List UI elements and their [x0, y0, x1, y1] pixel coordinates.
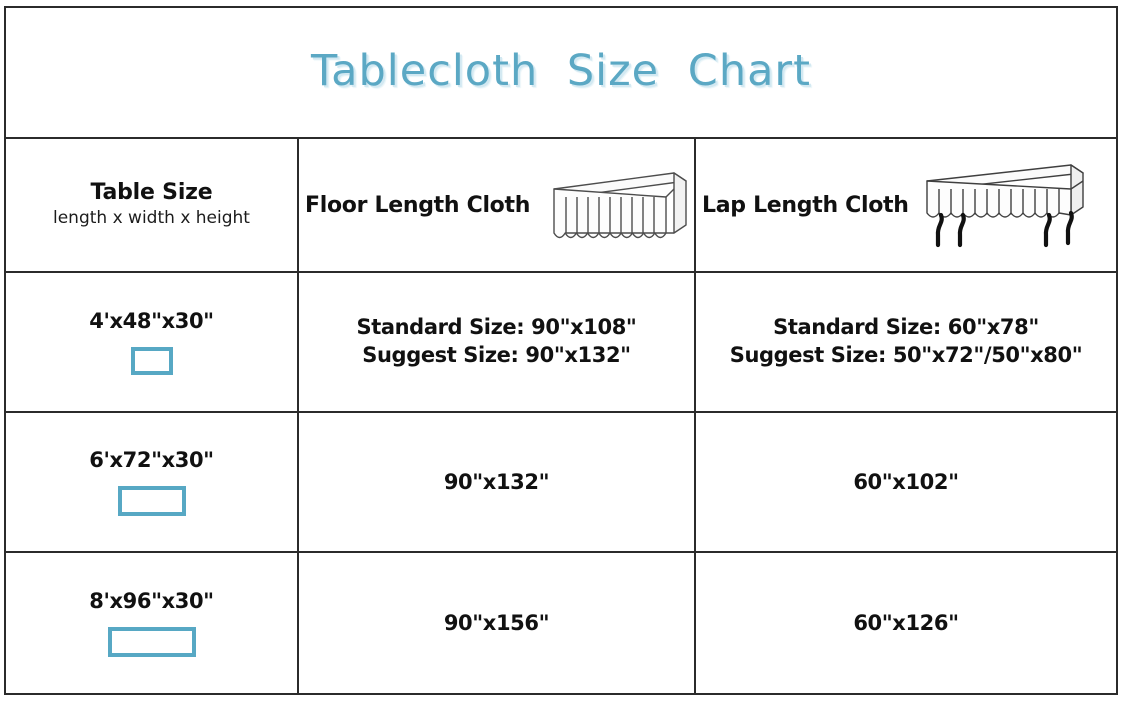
table-row: 6'x72"x30" 90"x132" 60"x102": [6, 413, 1116, 553]
lap-standard-size: Standard Size: 60"x78": [730, 314, 1083, 342]
page-title: Tablecloth Size Chart: [311, 50, 811, 95]
cell-table-size: 8'x96"x30": [6, 553, 299, 693]
floor-length-heading: Floor Length Cloth: [305, 193, 530, 218]
cell-floor-length: 90"x156": [299, 553, 696, 693]
floor-standard-size: Standard Size: 90"x108": [357, 314, 637, 342]
header-cell-table-size: Table Size length x width x height: [6, 139, 299, 271]
table-size-subheading: length x width x height: [53, 207, 250, 229]
floor-size: 90"x156": [444, 611, 549, 635]
table-size-heading: Table Size: [91, 180, 213, 206]
tablecloth-size-chart-page: Tablecloth Size Chart Table Size length …: [0, 0, 1125, 701]
cell-table-size: 4'x48"x30": [6, 273, 299, 411]
table-row: 4'x48"x30" Standard Size: 90"x108" Sugge…: [6, 273, 1116, 413]
table-row: 8'x96"x30" 90"x156" 60"x126": [6, 553, 1116, 693]
cell-lap-length: 60"x126": [696, 553, 1116, 693]
floor-size: 90"x132": [444, 470, 549, 494]
floor-length-tablecloth-icon: [534, 163, 690, 247]
cell-table-size: 6'x72"x30": [6, 413, 299, 551]
lap-suggest-size: Suggest Size: 50"x72"/50"x80": [730, 342, 1083, 370]
floor-suggest-size: Suggest Size: 90"x132": [357, 342, 637, 370]
table-shape-swatch: [108, 627, 196, 657]
table-header-row: Table Size length x width x height Floor…: [6, 139, 1116, 273]
lap-size: 60"x102": [853, 470, 958, 494]
header-cell-floor-length: Floor Length Cloth: [299, 139, 696, 271]
table-shape-swatch: [118, 486, 186, 516]
title-row: Tablecloth Size Chart: [6, 8, 1116, 139]
cell-lap-length: Standard Size: 60"x78" Suggest Size: 50"…: [696, 273, 1116, 411]
chart-table: Tablecloth Size Chart Table Size length …: [4, 6, 1118, 695]
table-size-value: 8'x96"x30": [89, 589, 213, 613]
table-shape-swatch: [131, 347, 173, 375]
lap-length-heading: Lap Length Cloth: [702, 193, 909, 218]
cell-floor-length: Standard Size: 90"x108" Suggest Size: 90…: [299, 273, 696, 411]
header-cell-lap-length: Lap Length Cloth: [696, 139, 1116, 271]
cell-lap-length: 60"x102": [696, 413, 1116, 551]
table-size-value: 6'x72"x30": [89, 448, 213, 472]
lap-length-tablecloth-icon: [913, 159, 1093, 251]
lap-size: 60"x126": [853, 611, 958, 635]
table-size-value: 4'x48"x30": [89, 309, 213, 333]
cell-floor-length: 90"x132": [299, 413, 696, 551]
